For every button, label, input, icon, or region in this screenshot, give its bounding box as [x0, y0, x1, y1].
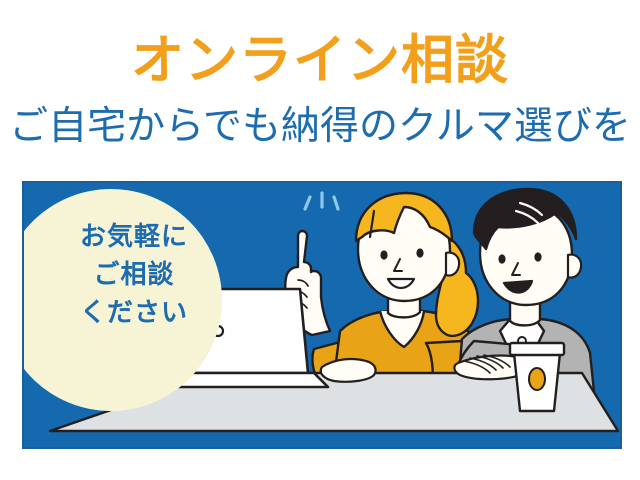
speech-line-2: ご相談	[44, 255, 224, 293]
coffee-cup-lid	[510, 343, 564, 355]
online-consultation-banner: オンライン相談 ご自宅からでも納得のクルマ選びを	[0, 0, 640, 480]
woman-hand	[321, 359, 376, 382]
illustration-panel: お気軽に ご相談 ください	[22, 181, 622, 449]
woman-eye-left	[380, 250, 387, 259]
woman-eye-right	[416, 248, 423, 257]
speech-circle-text: お気軽に ご相談 ください	[44, 217, 224, 331]
woman-ear	[446, 253, 459, 276]
man-eye-right	[534, 252, 541, 261]
page-subtitle: ご自宅からでも納得のクルマ選びを	[0, 104, 640, 150]
sparkle-icon	[305, 193, 338, 209]
speech-line-1: お気軽に	[44, 217, 224, 255]
speech-line-3: ください	[44, 293, 224, 331]
man-ear	[568, 255, 581, 278]
page-title: オンライン相談	[0, 32, 640, 90]
man-eye-left	[498, 254, 505, 263]
headline-area: オンライン相談 ご自宅からでも納得のクルマ選びを	[0, 0, 640, 178]
coffee-cup-logo	[529, 368, 545, 390]
